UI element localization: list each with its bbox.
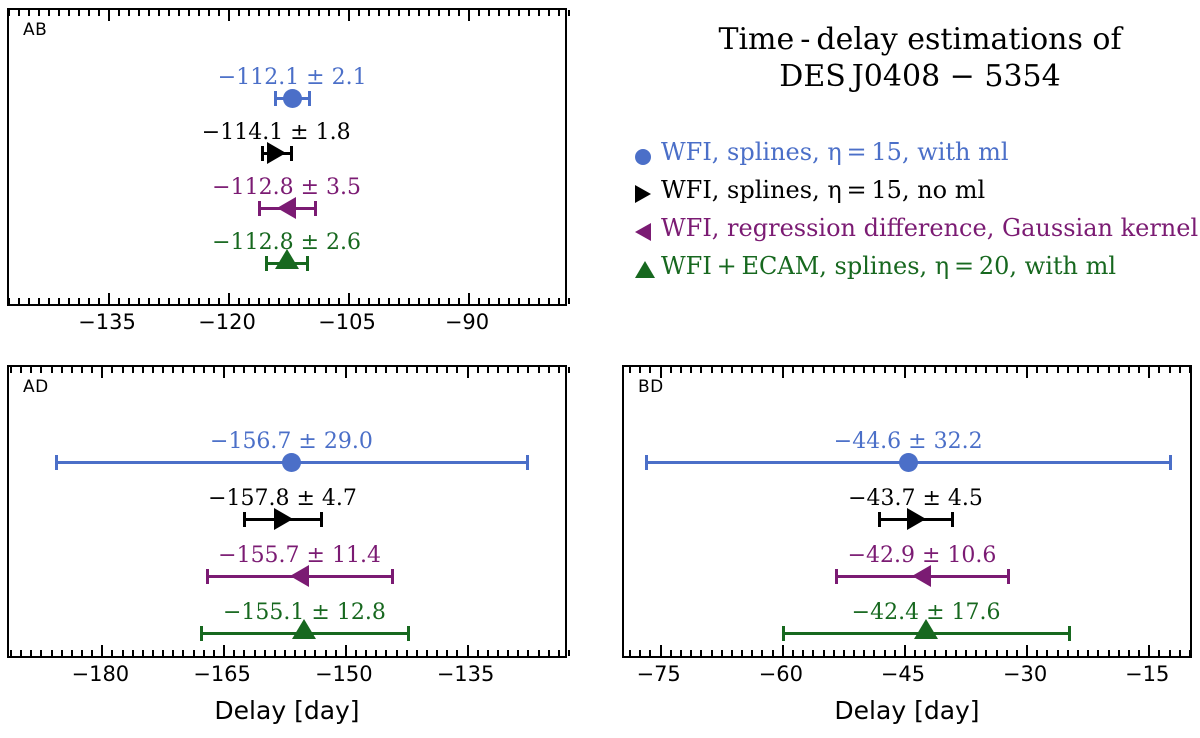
axis-tick-label: −165 — [193, 662, 251, 686]
axis-tick-label: −135 — [437, 662, 495, 686]
axis-tick-label: −90 — [445, 310, 489, 334]
axis-layer: −135−120−105−90−180−165−150−135Delay [da… — [0, 0, 1200, 738]
axis-tick-label: −120 — [198, 310, 256, 334]
x-axis-title: Delay [day] — [834, 696, 979, 725]
axis-tick-label: −30 — [1003, 662, 1047, 686]
axis-tick-label: −15 — [1125, 662, 1169, 686]
axis-tick-label: −60 — [759, 662, 803, 686]
axis-tick-label: −45 — [881, 662, 925, 686]
axis-tick-label: −75 — [636, 662, 680, 686]
x-axis-title: Delay [day] — [214, 696, 359, 725]
axis-tick-label: −150 — [315, 662, 373, 686]
axis-tick-label: −105 — [318, 310, 376, 334]
axis-tick-label: −180 — [71, 662, 129, 686]
axis-tick-label: −135 — [78, 310, 136, 334]
